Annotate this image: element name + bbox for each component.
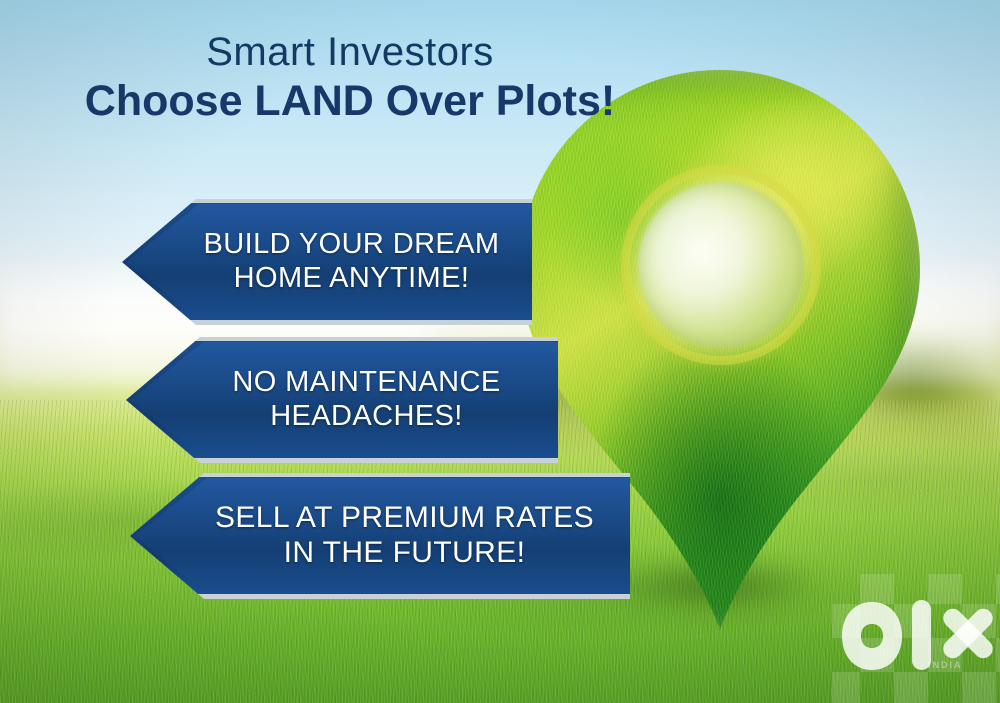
promo-banner-image: Smart Investors Choose LAND Over Plots! … xyxy=(0,0,1000,703)
banner-build-home-inner: BUILD YOUR DREAM HOME ANYTIME! xyxy=(127,204,532,320)
banner-premium-rates: SELL AT PREMIUM RATES IN THE FUTURE! xyxy=(130,473,630,599)
headline-block: Smart Investors Choose LAND Over Plots! xyxy=(0,30,700,125)
olx-watermark: INDIA xyxy=(832,574,1000,703)
olx-watermark-subtext: INDIA xyxy=(928,660,963,670)
olx-logo-icon xyxy=(838,596,996,676)
banner-build-home: BUILD YOUR DREAM HOME ANYTIME! xyxy=(122,199,532,325)
banner-no-maintenance: NO MAINTENANCE HEADACHES! xyxy=(126,337,558,463)
banner-no-maintenance-inner: NO MAINTENANCE HEADACHES! xyxy=(131,342,558,458)
banner-no-maintenance-text: NO MAINTENANCE HEADACHES! xyxy=(174,366,514,433)
headline-line-1: Smart Investors xyxy=(0,30,700,74)
banner-build-home-text: BUILD YOUR DREAM HOME ANYTIME! xyxy=(146,228,514,295)
headline-line-2: Choose LAND Over Plots! xyxy=(0,78,700,125)
pin-hole xyxy=(638,182,804,348)
banner-premium-rates-inner: SELL AT PREMIUM RATES IN THE FUTURE! xyxy=(135,478,630,594)
banner-premium-rates-text: SELL AT PREMIUM RATES IN THE FUTURE! xyxy=(157,501,608,571)
